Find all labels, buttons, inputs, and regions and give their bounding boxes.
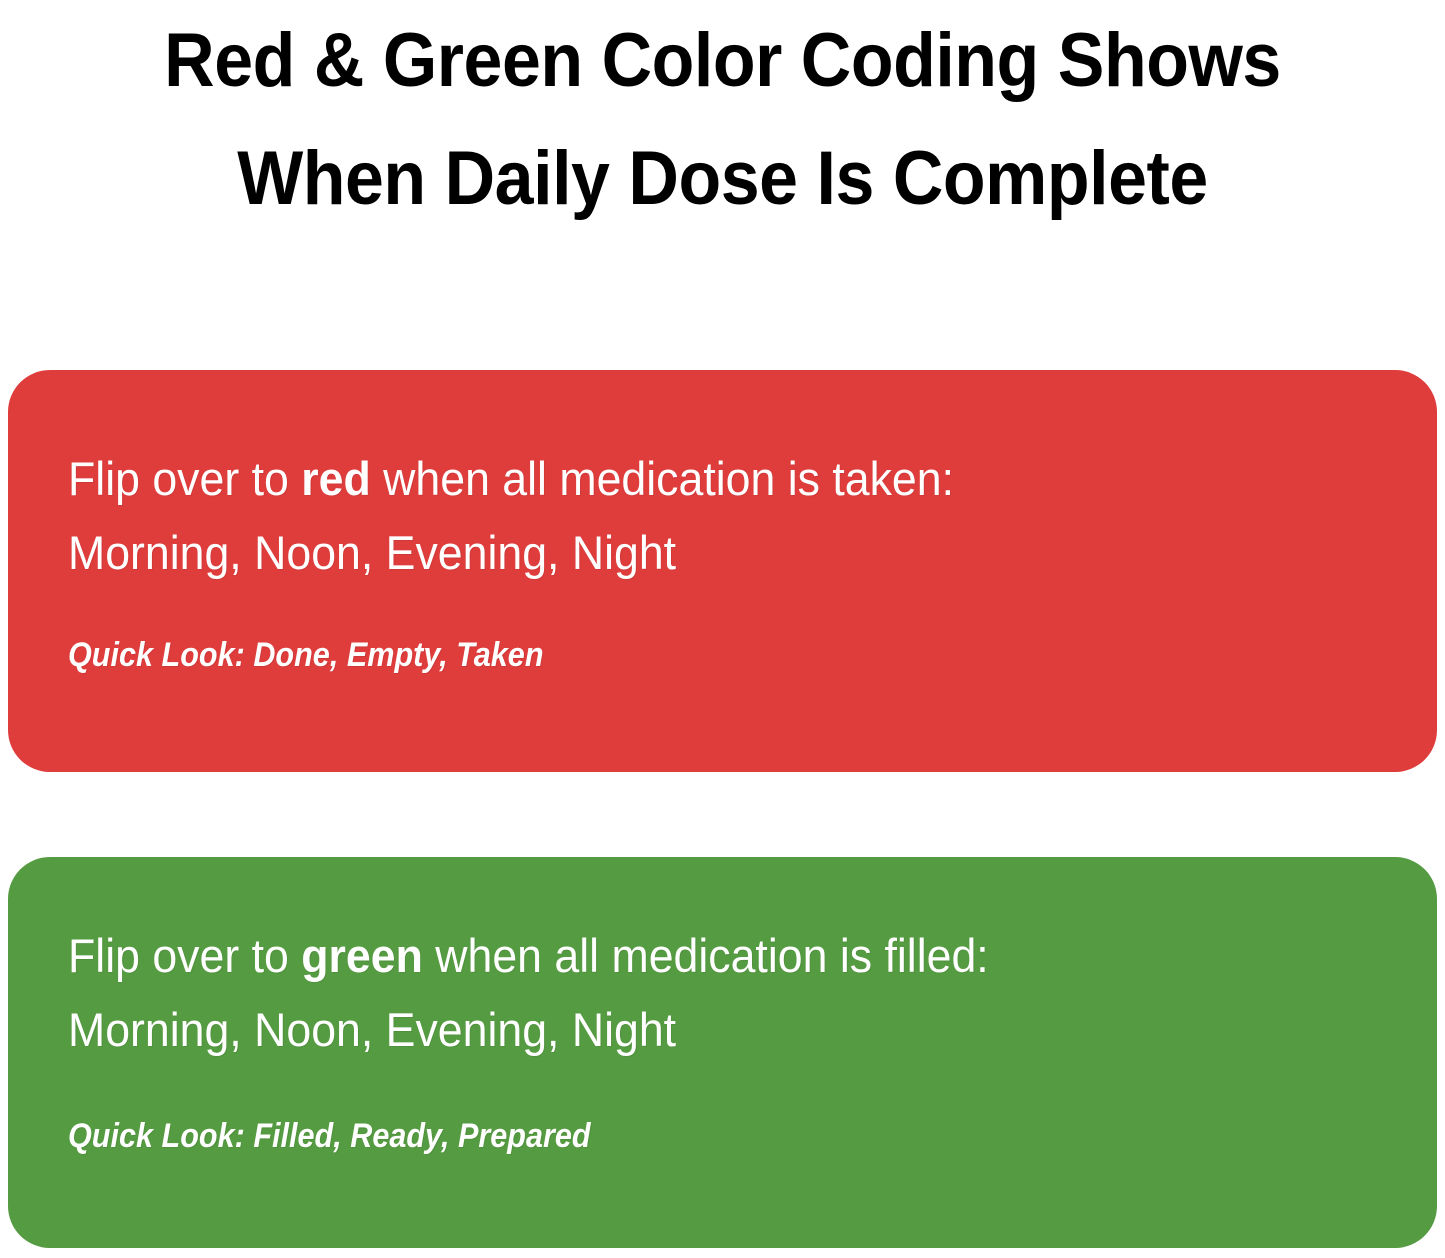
red-panel-line-2: Morning, Noon, Evening, Night [68,516,1331,590]
red-panel-line-1-prefix: Flip over to [68,452,301,505]
page-title-line-1: Red & Green Color Coding Shows [58,2,1387,120]
green-panel-line-1: Flip over to green when all medication i… [68,919,1331,993]
green-panel-body: Flip over to green when all medication i… [68,919,1397,1157]
red-panel-emphasis-word: red [301,452,370,505]
green-panel-line-1-prefix: Flip over to [68,929,301,982]
red-panel-quick-look: Quick Look: Done, Empty, Taken [68,634,1264,676]
green-panel-line-1-suffix: when all medication is filled: [423,929,989,982]
red-panel-line-1: Flip over to red when all medication is … [68,442,1331,516]
green-panel-emphasis-word: green [301,929,423,982]
page-title: Red & Green Color Coding Shows When Dail… [58,2,1387,238]
red-panel-line-1-suffix: when all medication is taken: [371,452,954,505]
green-panel-quick-look: Quick Look: Filled, Ready, Prepared [68,1115,1264,1157]
red-status-panel: Flip over to red when all medication is … [8,370,1437,772]
page-title-line-2: When Daily Dose Is Complete [58,120,1387,238]
green-panel-line-2: Morning, Noon, Evening, Night [68,993,1331,1067]
red-panel-body: Flip over to red when all medication is … [68,442,1397,676]
infographic-page: Red & Green Color Coding Shows When Dail… [0,0,1445,1258]
green-status-panel: Flip over to green when all medication i… [8,857,1437,1248]
